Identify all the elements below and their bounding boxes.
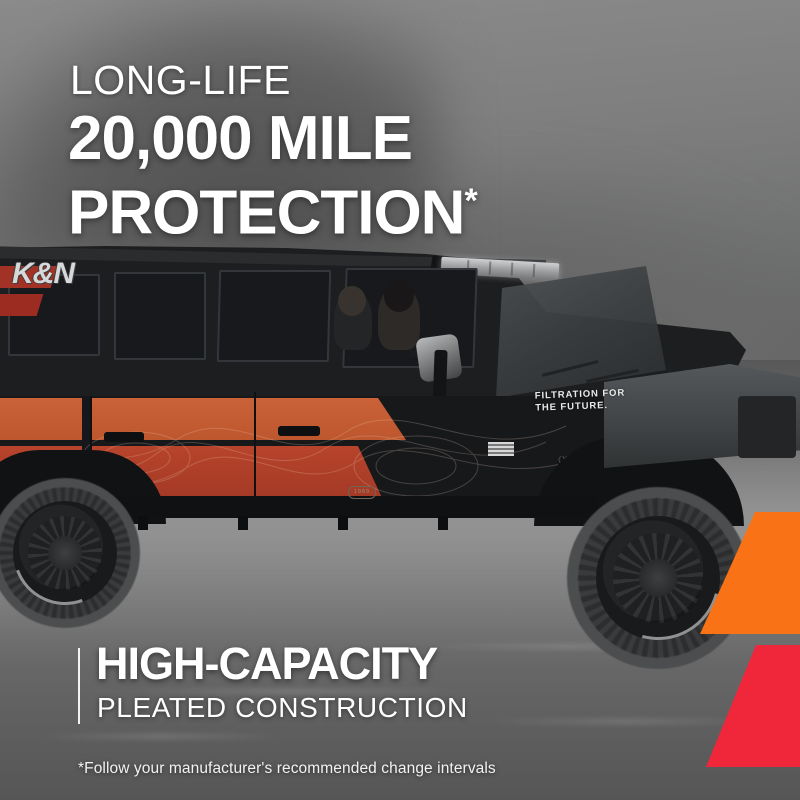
headline-line-1: 20,000 MILE — [68, 108, 412, 170]
vehicle-window-3 — [114, 272, 206, 360]
driver-head — [384, 280, 414, 312]
footnote-disclaimer: *Follow your manufacturer's recommended … — [78, 760, 496, 778]
subhead-subtitle: PLEATED CONSTRUCTION — [97, 692, 468, 724]
kn-logo-bar-bottom — [0, 294, 43, 316]
headline-eyebrow: LONG-LIFE — [70, 57, 291, 103]
headline-line-2-text: PROTECTION — [68, 179, 464, 248]
vehicle-door-badge: 1969 — [348, 486, 376, 499]
headline-asterisk: * — [464, 182, 477, 220]
passenger-head — [338, 286, 366, 316]
vehicle-flag-decal — [488, 442, 514, 456]
vehicle-window-2 — [217, 270, 331, 362]
vehicle-door-handle — [278, 426, 320, 436]
motion-streak — [30, 735, 290, 738]
headline-line-2: PROTECTION* — [68, 170, 478, 245]
vehicle-door-seam — [254, 392, 256, 510]
vehicle-door-handle — [104, 432, 144, 442]
kn-logo: K&N — [0, 262, 72, 328]
subhead-divider-rule — [78, 648, 80, 724]
vehicle-tagline-decal: FILTRATION FORTHE FUTURE. — [535, 387, 626, 413]
ad-creative: FILTRATION FORTHE FUTURE. 1969 K&N LONG-… — [0, 0, 800, 800]
subhead-title: HIGH-CAPACITY — [96, 638, 437, 690]
vehicle-grille — [738, 396, 796, 458]
kn-logo-text: K&N — [12, 260, 74, 287]
